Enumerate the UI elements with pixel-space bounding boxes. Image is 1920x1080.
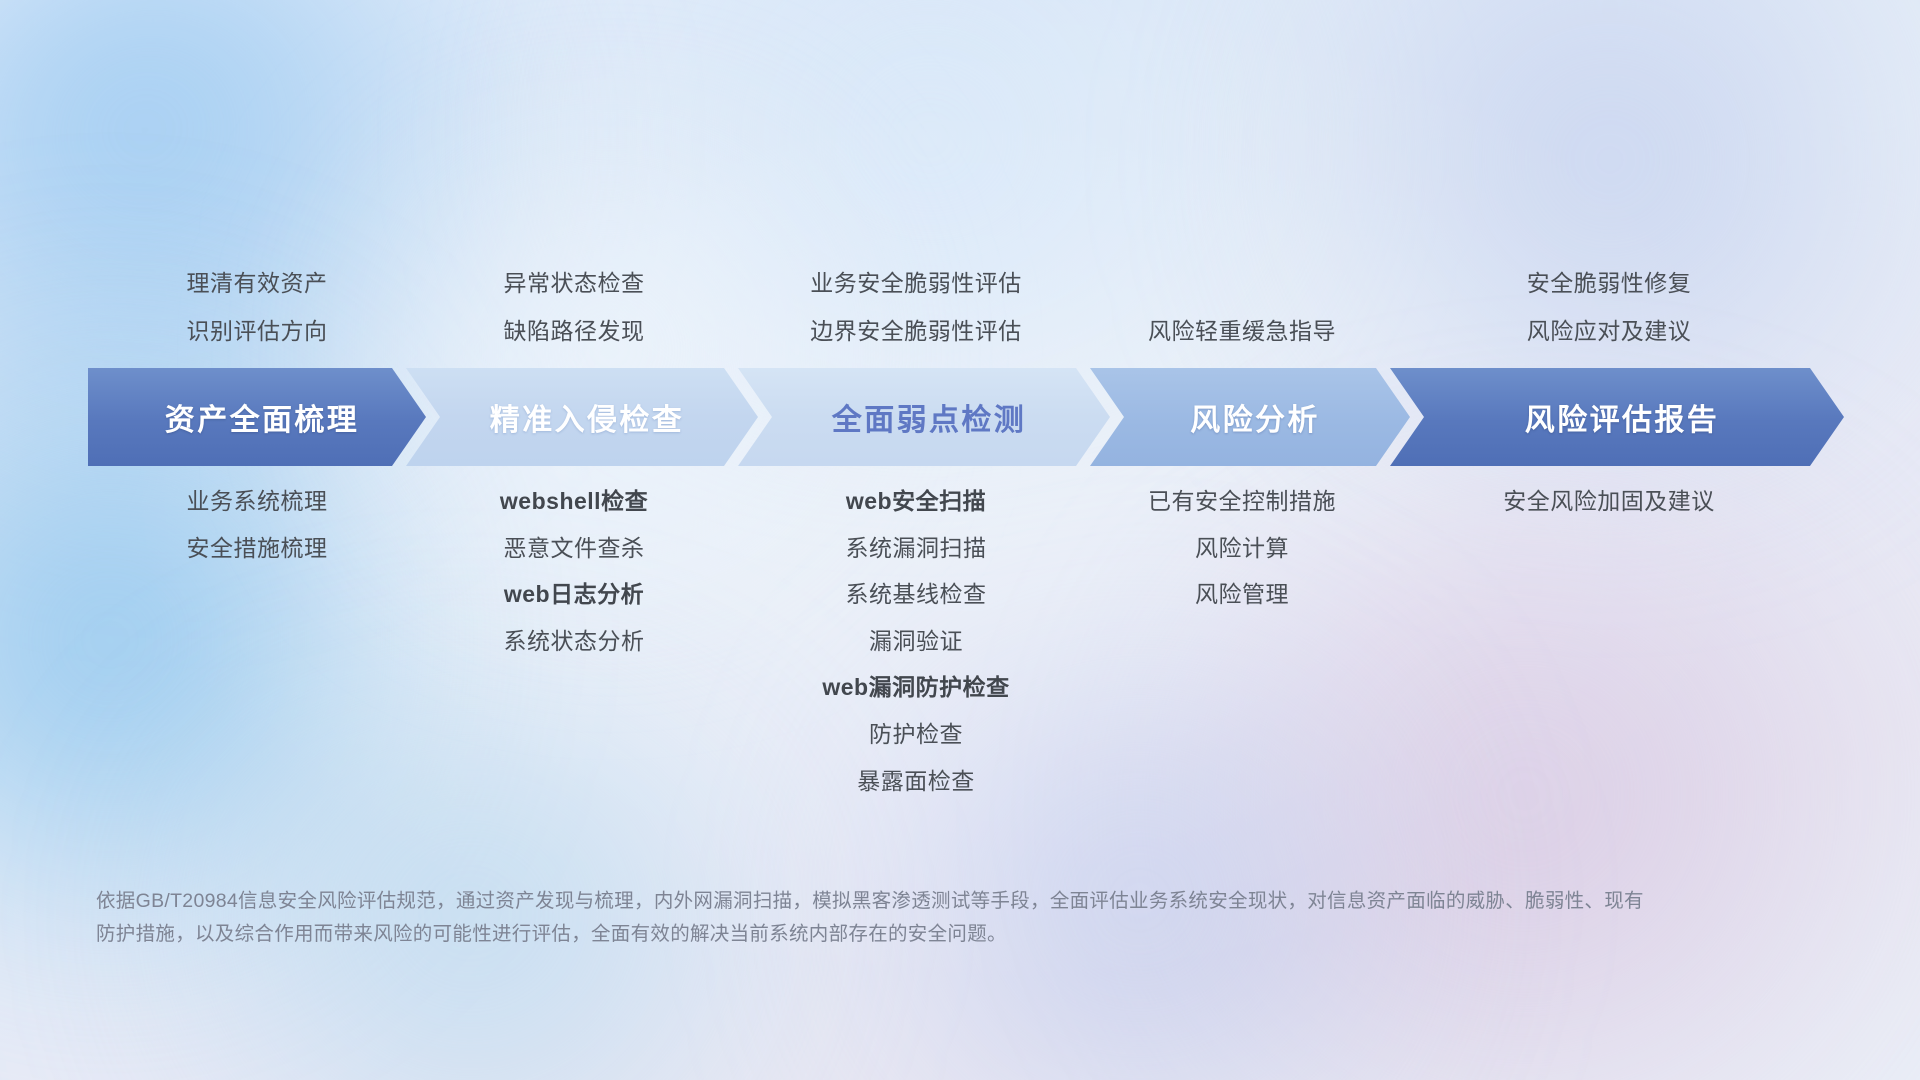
chevron-banner: 资产全面梳理精准入侵检查全面弱点检测风险分析风险评估报告	[88, 368, 1844, 466]
stage-output-item: 风险计算	[1195, 535, 1289, 563]
stage-outputs-5: 安全风险加固及建议	[1379, 488, 1839, 516]
stage-output-item: webshell检查	[500, 488, 648, 516]
stage-output-item: 风险管理	[1195, 581, 1289, 609]
stage-output-item: web日志分析	[504, 581, 644, 609]
stage-output-item: 防护检查	[869, 721, 963, 749]
stage-input-item: 异常状态检查	[504, 270, 645, 298]
stage-input-item: 安全脆弱性修复	[1527, 270, 1692, 298]
stage-output-item: 系统漏洞扫描	[846, 535, 987, 563]
stage-input-item: 风险应对及建议	[1527, 318, 1692, 346]
stage-output-item: web安全扫描	[846, 488, 986, 516]
stage-input-item: 理清有效资产	[187, 270, 328, 298]
stage-output-item: 暴露面检查	[857, 768, 975, 796]
stage-input-item: 缺陷路径发现	[504, 318, 645, 346]
stage-chevron-2[interactable]: 精准入侵检查	[406, 368, 758, 466]
stage-chevron-3[interactable]: 全面弱点检测	[738, 368, 1110, 466]
stage-output-item: 恶意文件查杀	[504, 535, 645, 563]
stage-label: 风险评估报告	[1390, 395, 1844, 439]
stage-output-item: web漏洞防护检查	[822, 674, 1009, 702]
stage-chevron-4[interactable]: 风险分析	[1090, 368, 1410, 466]
stage-label: 全面弱点检测	[738, 395, 1110, 439]
stage-label: 资产全面梳理	[88, 395, 426, 439]
stage-label: 风险分析	[1090, 395, 1410, 439]
stage-output-item: 安全措施梳理	[187, 535, 328, 563]
footer-description: 依据GB/T20984信息安全风险评估规范，通过资产发现与梳理，内外网漏洞扫描，…	[96, 885, 1656, 951]
stage-input-item: 识别评估方向	[187, 318, 328, 346]
stage-inputs-5: 安全脆弱性修复风险应对及建议	[1379, 270, 1839, 345]
stage-output-item: 安全风险加固及建议	[1503, 488, 1715, 516]
stage-output-item: 系统基线检查	[846, 581, 987, 609]
stage-output-item: 系统状态分析	[504, 628, 645, 656]
stage-input-item: 风险轻重缓急指导	[1148, 318, 1336, 346]
stage-output-item: 业务系统梳理	[187, 488, 328, 516]
stage-chevron-1[interactable]: 资产全面梳理	[88, 368, 426, 466]
stage-input-item: 边界安全脆弱性评估	[810, 318, 1022, 346]
stage-output-item: 已有安全控制措施	[1148, 488, 1336, 516]
stage-output-item: 漏洞验证	[869, 628, 963, 656]
stage-input-item: 业务安全脆弱性评估	[810, 270, 1022, 298]
stage-label: 精准入侵检查	[406, 395, 758, 439]
stage-chevron-5[interactable]: 风险评估报告	[1390, 368, 1844, 466]
